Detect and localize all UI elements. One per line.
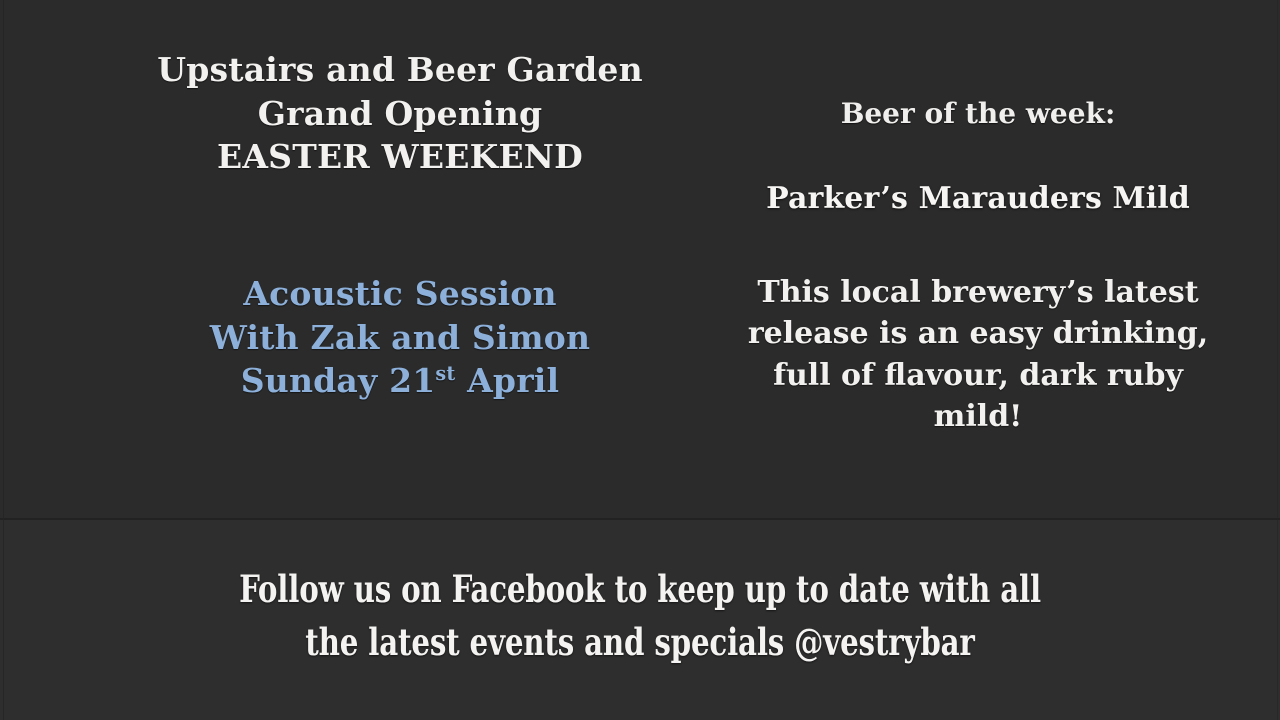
session-date-suffix: April (455, 361, 559, 400)
beer-description-line-2: release is an easy drinking, (690, 313, 1266, 354)
upper-panel: Upstairs and Beer Garden Grand Opening E… (0, 0, 1280, 518)
left-edge-seam (3, 0, 4, 720)
beer-of-the-week-label: Beer of the week: (690, 99, 1266, 129)
session-date-prefix: Sunday 21 (241, 361, 436, 400)
beer-description-line-4: mild! (690, 396, 1266, 437)
right-column: Beer of the week: Parker’s Marauders Mil… (690, 0, 1266, 518)
footer-line-1: Follow us on Facebook to keep up to date… (77, 563, 1203, 616)
facebook-follow-message: Follow us on Facebook to keep up to date… (77, 563, 1203, 668)
beer-description-line-3: full of flavour, dark ruby (690, 355, 1266, 396)
headline-line-1: Upstairs and Beer Garden (40, 52, 760, 88)
session-date: Sunday 21st April (40, 363, 760, 399)
grand-opening-headline: Upstairs and Beer Garden Grand Opening E… (40, 52, 760, 183)
acoustic-session-block: Acoustic Session With Zak and Simon Sund… (40, 276, 760, 407)
beer-description-line-1: This local brewery’s latest (690, 272, 1266, 313)
beer-description: This local brewery’s latest release is a… (690, 272, 1266, 438)
session-performers: With Zak and Simon (40, 320, 760, 356)
footer-line-2: the latest events and specials @vestryba… (77, 616, 1203, 669)
left-column: Upstairs and Beer Garden Grand Opening E… (40, 0, 760, 518)
beer-name: Parker’s Marauders Mild (690, 183, 1266, 215)
slide-screen: Upstairs and Beer Garden Grand Opening E… (0, 0, 1280, 720)
headline-line-2: Grand Opening (40, 96, 760, 132)
session-title: Acoustic Session (40, 276, 760, 312)
headline-line-3: EASTER WEEKEND (40, 139, 760, 175)
session-date-ordinal: st (435, 362, 455, 385)
right-edge-seam (1277, 0, 1278, 720)
